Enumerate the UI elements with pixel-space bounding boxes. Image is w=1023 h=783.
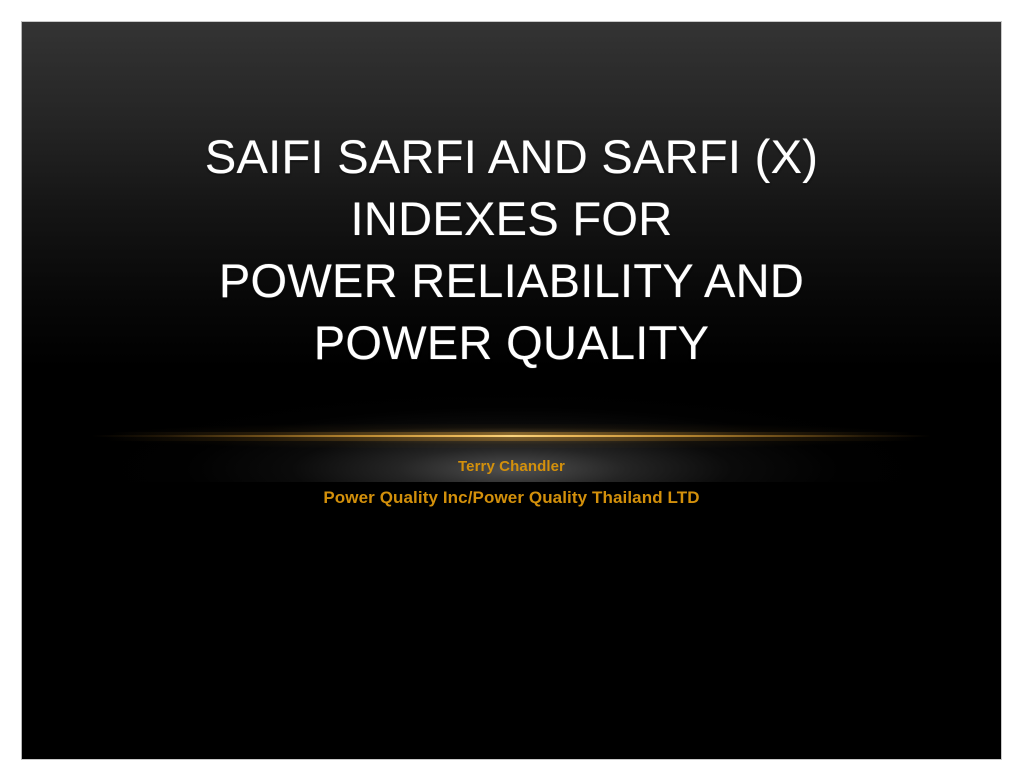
title-line-3: POWER RELIABILITY AND (92, 250, 931, 312)
subtitle-presenter: Terry Chandler (82, 452, 941, 482)
title-line-4: POWER QUALITY (92, 312, 931, 374)
presentation-slide[interactable]: SAIFI SARFI AND SARFI (X) INDEXES FOR PO… (21, 21, 1002, 760)
title-line-2: INDEXES FOR (92, 188, 931, 250)
slide-title: SAIFI SARFI AND SARFI (X) INDEXES FOR PO… (22, 126, 1001, 374)
subtitle-affiliation: Power Quality Inc/Power Quality Thailand… (82, 482, 941, 514)
slide-subtitle: Terry Chandler Power Quality Inc/Power Q… (22, 452, 1001, 514)
slide-lower-empty-area (22, 542, 1001, 759)
slide-page: SAIFI SARFI AND SARFI (X) INDEXES FOR PO… (0, 0, 1023, 783)
title-line-1: SAIFI SARFI AND SARFI (X) (92, 126, 931, 188)
